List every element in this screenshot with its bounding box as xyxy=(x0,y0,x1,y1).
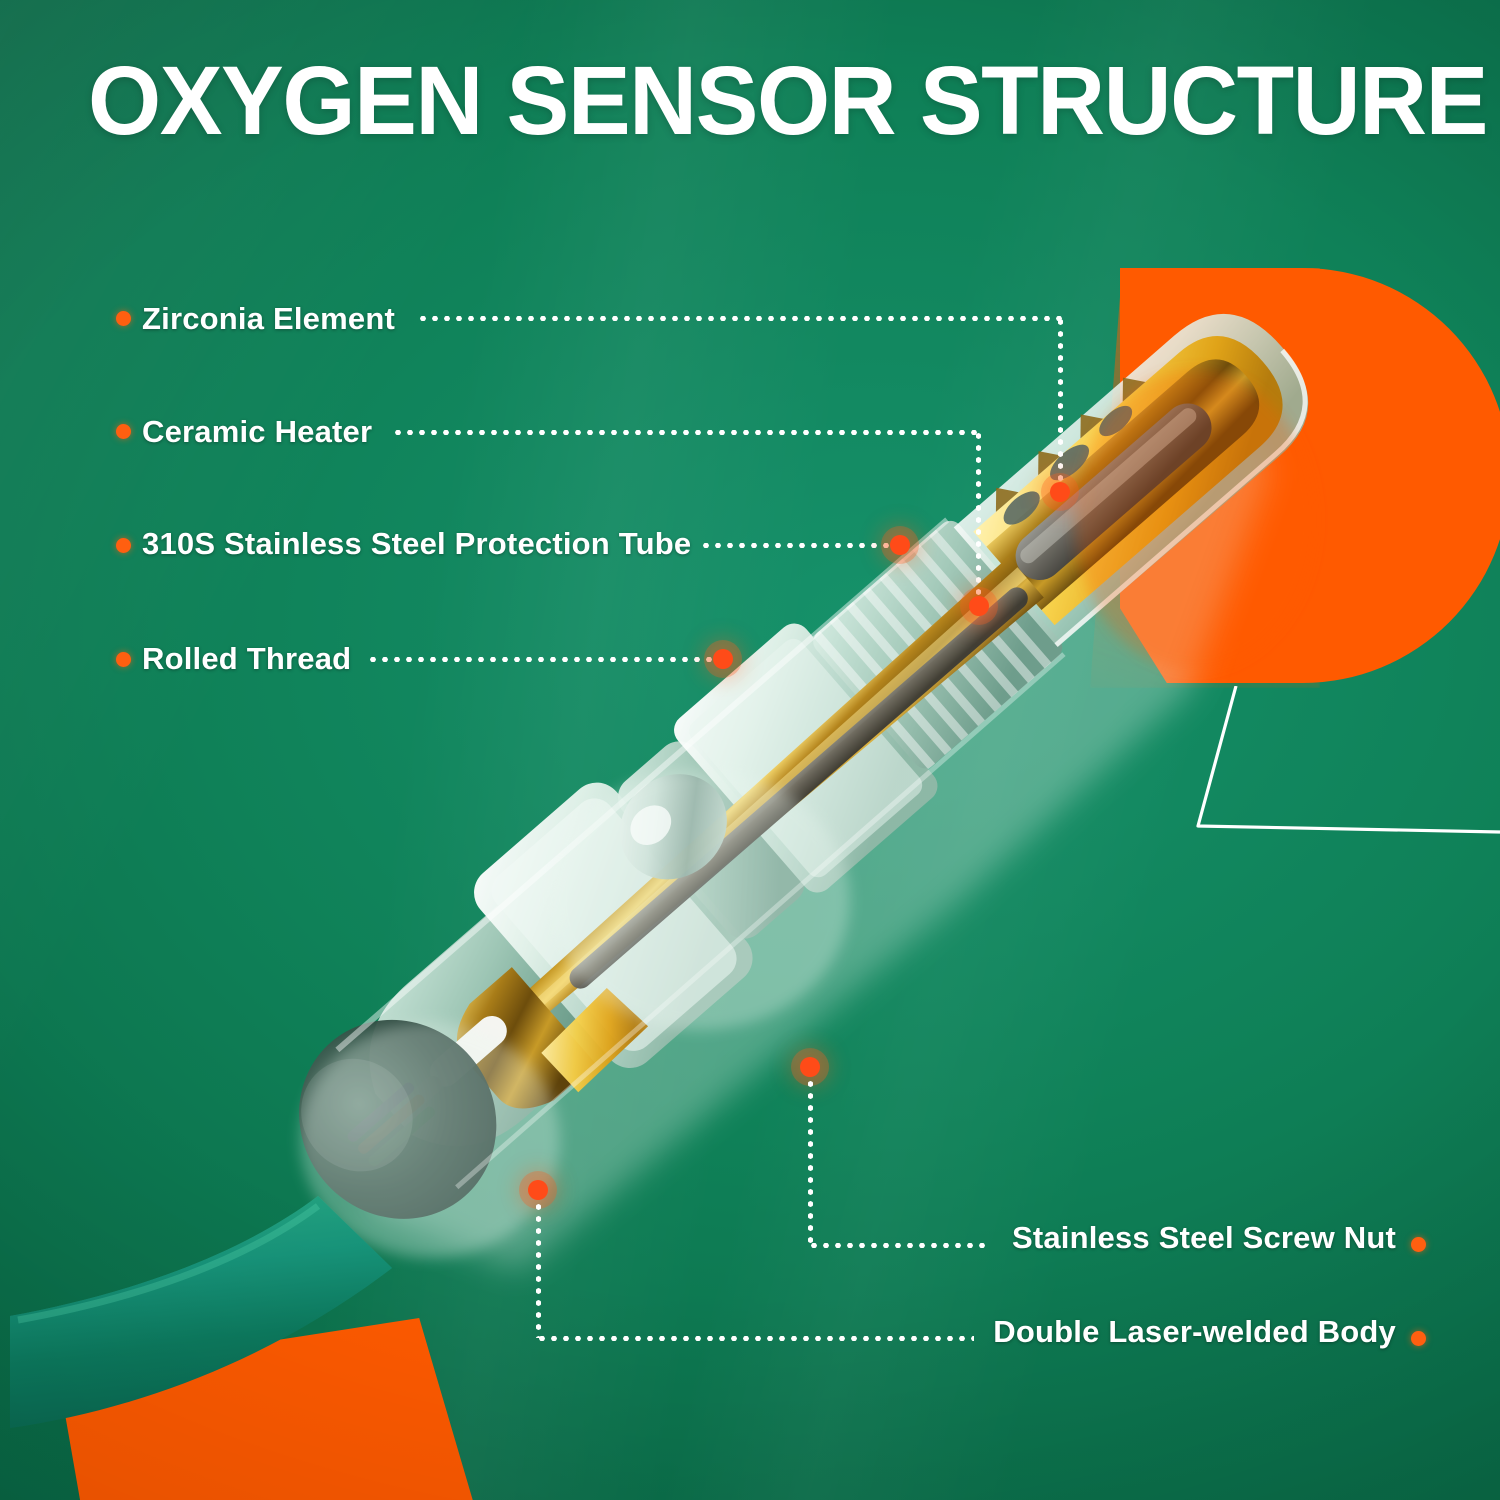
leader-line-laser-body-horizontal xyxy=(536,1336,974,1341)
infographic-canvas: OXYGEN SENSOR STRUCTURE Zirconia Element… xyxy=(0,0,1500,1500)
callout-label-zirconia-element: Zirconia Element xyxy=(142,303,395,334)
leader-line-ceramic-vertical xyxy=(976,430,981,606)
callout-label-rolled-thread: Rolled Thread xyxy=(142,643,351,674)
leader-line-screw-nut-horizontal xyxy=(808,1243,986,1248)
anchor-dot-laser-welded-body xyxy=(528,1180,548,1200)
anchor-dot-screw-nut xyxy=(800,1057,820,1077)
leader-line-rolled-thread xyxy=(367,657,719,662)
callout-label-ceramic-heater: Ceramic Heater xyxy=(142,416,372,447)
bullet-dot-ceramic-heater xyxy=(116,424,131,439)
leader-line-zirconia-horizontal xyxy=(417,316,1063,321)
leader-line-laser-body-vertical xyxy=(536,1201,541,1338)
callout-label-protection-tube: 310S Stainless Steel Protection Tube xyxy=(142,528,691,559)
anchor-dot-rolled-thread xyxy=(713,649,733,669)
anchor-dot-ceramic-heater xyxy=(969,596,989,616)
bullet-dot-rolled-thread xyxy=(116,652,131,667)
bullet-dot-laser-welded-body xyxy=(1411,1331,1426,1346)
anchor-dot-zirconia-element xyxy=(1050,482,1070,502)
leader-line-screw-nut-vertical xyxy=(808,1078,813,1245)
bullet-dot-screw-nut xyxy=(1411,1237,1426,1252)
leader-line-protection-tube xyxy=(700,543,896,548)
callout-label-laser-welded-body: Double Laser-welded Body xyxy=(993,1316,1396,1347)
leader-line-ceramic-horizontal xyxy=(392,430,980,435)
bullet-dot-protection-tube xyxy=(116,538,131,553)
page-title: OXYGEN SENSOR STRUCTURE xyxy=(88,52,1487,149)
anchor-dot-protection-tube xyxy=(890,535,910,555)
bullet-dot-zirconia-element xyxy=(116,311,131,326)
callout-label-screw-nut: Stainless Steel Screw Nut xyxy=(1012,1222,1396,1253)
leader-line-zirconia-vertical xyxy=(1058,316,1063,492)
accent-bracket-line xyxy=(1190,686,1500,836)
